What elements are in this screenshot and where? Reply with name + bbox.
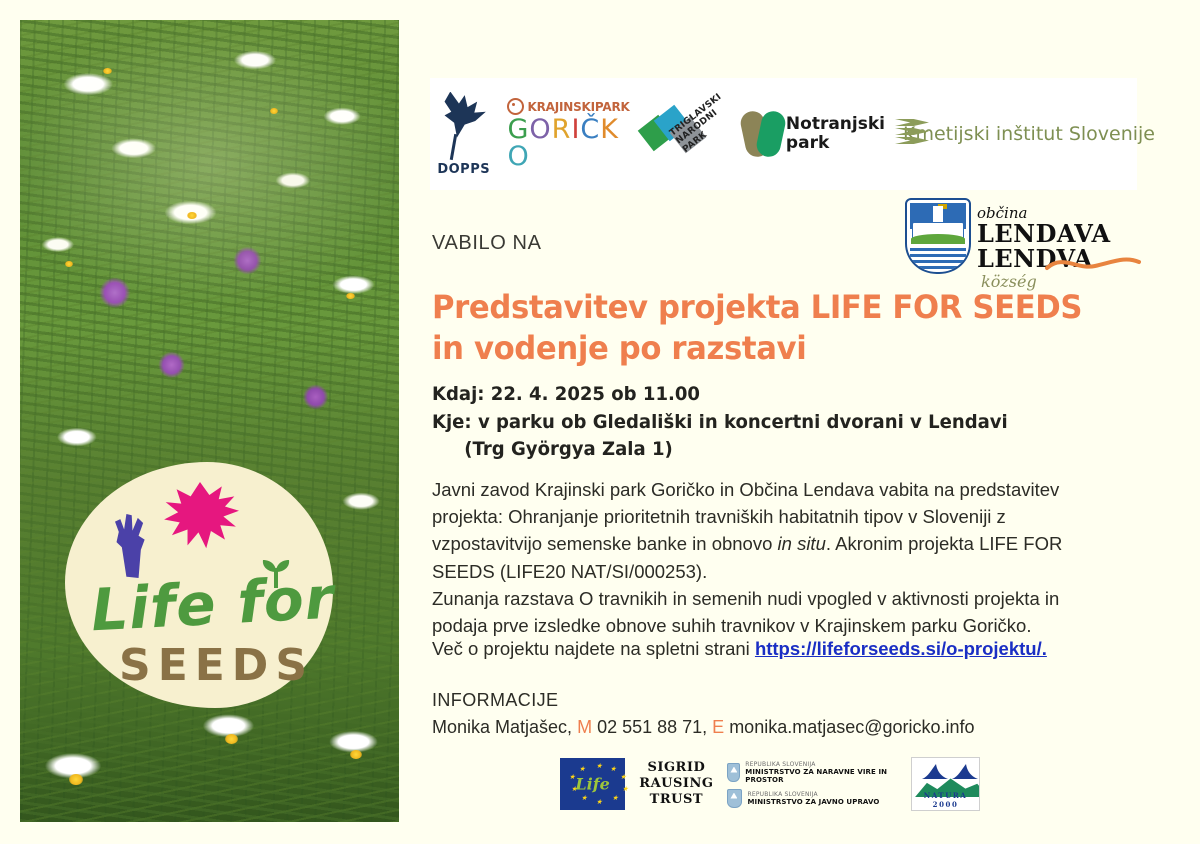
sun-gear-icon bbox=[507, 98, 524, 115]
partner-logo-kmetijski-institut: Kmetijski inštitut Slovenije bbox=[895, 119, 1137, 149]
where-label: Kje: bbox=[432, 411, 472, 433]
contact-line: Monika Matjašec, M 02 551 88 71, E monik… bbox=[432, 714, 1112, 741]
bird-icon bbox=[440, 92, 488, 138]
partner-logo-dopps: DOPPS bbox=[430, 92, 497, 177]
ministry-text: REPUBLIKA SLOVENIJA MINISTRSTVO ZA JAVNO… bbox=[747, 791, 879, 806]
when-label: Kdaj: bbox=[432, 383, 485, 405]
crest-waves bbox=[910, 248, 966, 270]
ministry-text: REPUBLIKA SLOVENIJA MINISTRSTVO ZA NARAV… bbox=[745, 761, 897, 784]
bird-tail-icon bbox=[440, 138, 488, 164]
dopps-label: DOPPS bbox=[437, 162, 490, 177]
content-column: DOPPS KRAJINSKIPARK GORIČKO TRIGLAVSKI N… bbox=[0, 0, 1200, 844]
event-details: Kdaj: 22. 4. 2025 ob 11.00 Kje: v parku … bbox=[432, 381, 1078, 464]
sigrid-rausing-trust-logo: SIGRID RAUSING TRUST bbox=[639, 760, 713, 809]
partner-logo-notranjski: Notranjski park bbox=[743, 110, 885, 158]
goricko-tagline: KRAJINSKIPARK bbox=[527, 100, 629, 114]
partner-logo-goricko: KRAJINSKIPARK GORIČKO bbox=[507, 98, 631, 170]
ntp-line-2: park bbox=[786, 134, 885, 153]
natura-birds-icon bbox=[918, 763, 980, 781]
contact-person: Monika Matjašec, bbox=[432, 717, 577, 737]
lendava-row-1: občinaLENDAVA bbox=[977, 204, 1137, 247]
orange-swoosh-icon bbox=[1045, 256, 1141, 274]
goricko-wordmark: GORIČKO bbox=[507, 116, 631, 170]
body-copy: Javni zavod Krajinski park Goričko in Ob… bbox=[432, 476, 1104, 639]
phone-prefix-icon: M bbox=[577, 717, 592, 737]
ministry-country: REPUBLIKA SLOVENIJA bbox=[747, 791, 879, 798]
sigrid-line-2: RAUSING bbox=[639, 776, 713, 792]
eu-flag-life-icon: ★★★ ★★★ ★★★ ★ Life bbox=[560, 758, 625, 810]
ministry-row: REPUBLIKA SLOVENIJA MINISTRSTVO ZA JAVNO… bbox=[727, 789, 897, 808]
ministry-row: REPUBLIKA SLOVENIJA MINISTRSTVO ZA NARAV… bbox=[727, 761, 897, 784]
project-link-line: Več o projektu najdete na spletni strani… bbox=[432, 638, 1112, 660]
sigrid-line-1: SIGRID bbox=[639, 760, 713, 776]
ministry-name: MINISTRSTVO ZA NARAVNE VIRE IN PROSTOR bbox=[745, 768, 897, 784]
contact-info: INFORMACIJE Monika Matjašec, M 02 551 88… bbox=[432, 687, 1112, 741]
partner-logo-triglavski: TRIGLAVSKI NARODNI PARK bbox=[641, 98, 733, 170]
natura-2000-icon: NATURA 2000 bbox=[911, 757, 980, 811]
where-value-second-line: (Trg Györgya Zala 1) bbox=[432, 436, 1078, 464]
sigrid-line-3: TRUST bbox=[639, 792, 713, 808]
crest-hill bbox=[911, 234, 965, 244]
event-when-line: Kdaj: 22. 4. 2025 ob 11.00 bbox=[432, 381, 1078, 409]
life-wordmark: Life bbox=[575, 775, 609, 794]
body-p1-italic: in situ bbox=[778, 533, 826, 554]
project-website-link[interactable]: https://lifeforseeds.si/o-projektu/. bbox=[755, 638, 1047, 659]
lendava-wordmark: občinaLENDAVA LENDVAközség bbox=[977, 204, 1137, 292]
page-title: Predstavitev projekta LIFE FOR SEEDS in … bbox=[432, 287, 1085, 369]
event-where-line: Kje: v parku ob Gledališki in koncertni … bbox=[432, 409, 1078, 437]
ministry-country: REPUBLIKA SLOVENIJA bbox=[745, 761, 897, 768]
notranjski-wordmark: Notranjski park bbox=[786, 115, 885, 152]
kmetijski-label: Kmetijski inštitut Slovenije bbox=[903, 123, 1155, 145]
slovenia-crest-icon bbox=[727, 763, 740, 782]
triglavski-wordmark: TRIGLAVSKI NARODNI PARK bbox=[668, 92, 736, 155]
ministry-name: MINISTRSTVO ZA JAVNO UPRAVO bbox=[747, 798, 879, 806]
goricko-top-row: KRAJINSKIPARK bbox=[507, 98, 629, 115]
ministry-logos: REPUBLIKA SLOVENIJA MINISTRSTVO ZA NARAV… bbox=[727, 761, 897, 808]
body-paragraph-1: Javni zavod Krajinski park Goričko in Ob… bbox=[432, 476, 1104, 585]
funder-logo-strip: ★★★ ★★★ ★★★ ★ Life SIGRID RAUSING TRUST … bbox=[560, 752, 980, 816]
link-prefix-text: Več o projektu najdete na spletni strani bbox=[432, 638, 755, 659]
contact-email: monika.matjasec@goricko.info bbox=[724, 717, 974, 737]
lendava-name-sl: LENDAVA bbox=[977, 222, 1111, 246]
lendava-municipality-logo: občinaLENDAVA LENDVAközség bbox=[905, 198, 1137, 284]
two-leaves-icon bbox=[743, 110, 778, 158]
when-value: 22. 4. 2025 ob 11.00 bbox=[491, 383, 700, 405]
lendava-coat-of-arms-icon bbox=[905, 198, 971, 274]
contact-phone: 02 551 88 71, bbox=[592, 717, 712, 737]
invite-kicker: VABILO NA bbox=[432, 232, 542, 255]
ntp-line-1: Notranjski bbox=[786, 115, 885, 134]
email-prefix-icon: E bbox=[712, 717, 724, 737]
natura-label: NATURA 2000 bbox=[912, 791, 979, 809]
where-value: v parku ob Gledališki in koncertni dvora… bbox=[478, 411, 1008, 433]
slovenia-crest-icon bbox=[727, 789, 742, 808]
body-paragraph-2: Zunanja razstava O travnikih in semenih … bbox=[432, 585, 1104, 639]
partner-logo-strip: DOPPS KRAJINSKIPARK GORIČKO TRIGLAVSKI N… bbox=[430, 78, 1137, 190]
contact-heading: INFORMACIJE bbox=[432, 687, 1112, 714]
